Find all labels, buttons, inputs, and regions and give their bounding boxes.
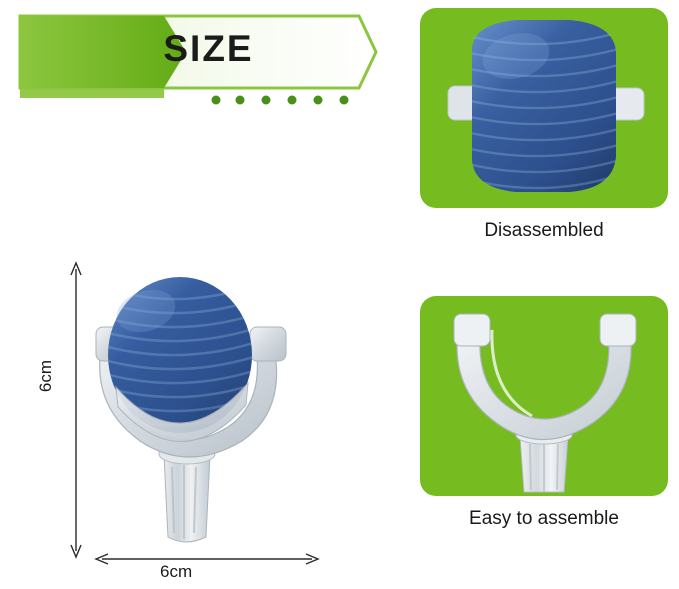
- panel-disassembled: [420, 8, 668, 208]
- easy-assemble-graphic: [420, 296, 668, 496]
- dimension-width-label: 6cm: [160, 562, 192, 582]
- panel-easy-to-assemble: [420, 296, 668, 496]
- size-banner-graphic: [14, 10, 379, 106]
- main-product-image: [60, 255, 380, 575]
- dimension-height-label: 6cm: [36, 360, 56, 392]
- caption-disassembled: Disassembled: [420, 220, 668, 242]
- caption-easy-to-assemble: Easy to assemble: [420, 508, 668, 530]
- disassembled-graphic: [420, 8, 668, 208]
- size-banner: SIZE: [14, 10, 379, 98]
- main-product-graphic: [60, 255, 380, 575]
